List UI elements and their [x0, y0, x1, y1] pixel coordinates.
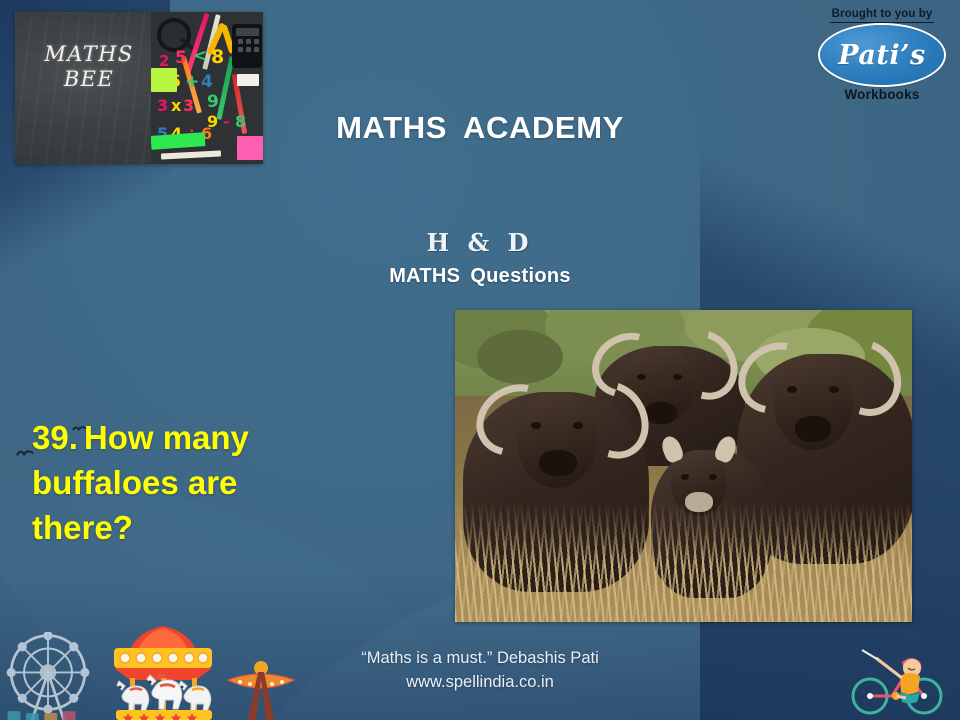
maths-bee-label: MATHS BEE	[25, 42, 153, 92]
slide-canvas: MATHS BEE 2 5	[0, 0, 960, 720]
brand-tagline: Brought to you by	[830, 8, 935, 23]
question-number: 39.	[32, 419, 78, 456]
buffalo-eye	[531, 422, 541, 429]
swing-ride-icon	[222, 658, 300, 720]
page-title: MATHSACADEMY	[0, 110, 960, 146]
buffalo-eye	[637, 374, 646, 380]
buffalo-calf-eye	[709, 474, 717, 480]
page-title-part2: ACADEMY	[463, 110, 624, 145]
buffalo-muzzle	[795, 416, 831, 442]
page-title-part1: MATHS	[336, 110, 447, 145]
brand-subtitle: Workbooks	[812, 87, 952, 102]
buffalo-muzzle	[645, 402, 677, 424]
subtitle-decorative: H & D	[0, 228, 960, 257]
subtitle: MATHSQuestions	[0, 265, 960, 288]
buffalo-herd-photo	[455, 310, 912, 622]
carousel-icon	[100, 624, 226, 720]
buffalo-eye	[673, 374, 682, 380]
subtitle-part2: Questions	[470, 265, 571, 287]
brand-name: Pati’s	[838, 40, 925, 71]
subtitle-part1: MATHS	[389, 265, 460, 287]
buffalo-calf-eye	[681, 474, 689, 480]
patis-workbooks-logo[interactable]: Brought to you by Pati’s Workbooks	[812, 4, 952, 112]
photo-dry-grass	[455, 502, 912, 622]
buffalo-muzzle	[539, 450, 577, 476]
girl-on-bicycle-icon	[844, 638, 954, 716]
maths-bee-line1: MATHS	[25, 42, 153, 67]
buffalo-eye	[787, 386, 797, 393]
maths-bee-line2: BEE	[25, 67, 153, 92]
carnival-decoration	[0, 612, 300, 720]
brand-oval: Pati’s	[820, 25, 944, 85]
buffalo-eye	[573, 422, 583, 429]
question-block: 39.How many buffaloes are there?	[32, 415, 332, 550]
carousel-horse	[147, 675, 182, 709]
photo-bush	[477, 330, 563, 384]
buffalo-eye	[829, 386, 839, 393]
footer-quote: “Maths is a must.” Debashis Pati	[361, 649, 599, 667]
ferris-wheel-icon	[2, 632, 94, 720]
